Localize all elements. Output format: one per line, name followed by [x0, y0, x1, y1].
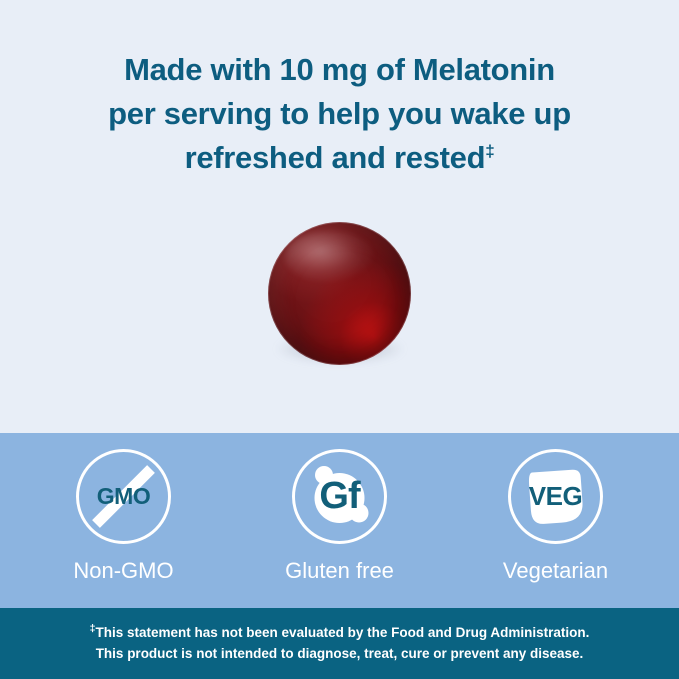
page-title: Made with 10 mg of Melatonin per serving…	[0, 48, 679, 180]
badge-mark-label: Gf	[292, 449, 387, 544]
badge-mark-label: VEG	[508, 449, 603, 544]
disclaimer-text: ‡This statement has not been evaluated b…	[90, 623, 590, 665]
badge-gluten-free: Gf Gluten free	[254, 449, 426, 584]
headline-line-2: per serving to help you wake up	[108, 96, 571, 131]
hero-section: Made with 10 mg of Melatonin per serving…	[0, 0, 679, 433]
product-image-wrap	[0, 222, 679, 365]
headline-footnote-marker: ‡	[485, 142, 494, 161]
disclaimer-footer: ‡This statement has not been evaluated b…	[0, 608, 679, 679]
badge-mark-label: GMO	[76, 449, 171, 544]
product-info-graphic: Made with 10 mg of Melatonin per serving…	[0, 0, 679, 679]
certification-badge-band: GMO Non-GMO Gf Gluten free	[0, 433, 679, 608]
badge-label: Vegetarian	[503, 558, 608, 584]
badge-label: Gluten free	[285, 558, 394, 584]
melatonin-gummy-image	[268, 222, 411, 365]
headline-line-3: refreshed and rested	[185, 140, 486, 175]
badge-non-gmo: GMO Non-GMO	[38, 449, 210, 584]
badge-vegetarian: VEG Vegetarian	[470, 449, 642, 584]
non-gmo-icon: GMO	[76, 449, 171, 544]
gummy-rim	[268, 222, 411, 365]
disclaimer-line-1: This statement has not been evaluated by…	[96, 625, 590, 640]
vegetarian-icon: VEG	[508, 449, 603, 544]
disclaimer-line-2: This product is not intended to diagnose…	[96, 646, 584, 661]
gluten-free-icon: Gf	[292, 449, 387, 544]
badge-label: Non-GMO	[73, 558, 173, 584]
headline-line-1: Made with 10 mg of Melatonin	[124, 52, 555, 87]
